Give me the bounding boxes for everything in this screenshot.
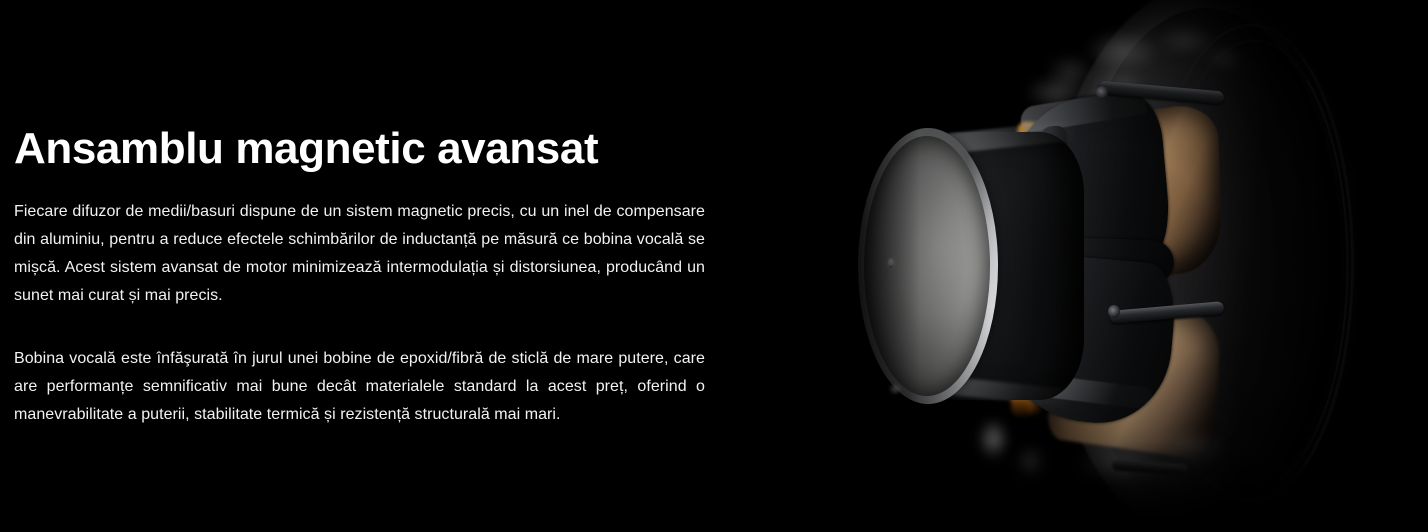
paragraph-2: Bobina vocală este înfăşurată în jurul u… [14, 345, 705, 429]
basket-rod-bottom-cap [1108, 305, 1120, 318]
mounting-tab-c [1060, 424, 1240, 532]
magnet-vent-hole [888, 258, 894, 268]
magnet-backplate-sheen [874, 152, 960, 362]
paragraph-1: Fiecare difuzor de medii/basuri dispune … [14, 198, 705, 310]
speaker-product-image [830, 0, 1428, 532]
product-image-stage [830, 0, 1428, 532]
magnet-backplate-specular [888, 384, 902, 394]
feature-text-column: Ansamblu magnetic avansat Fiecare difuzo… [14, 0, 706, 532]
feature-description: Fiecare difuzor de medii/basuri dispune … [14, 198, 705, 429]
magnet-feature-section: Ansamblu magnetic avansat Fiecare difuzo… [0, 0, 1428, 532]
basket-rod-top-cap [1096, 86, 1108, 99]
mounting-tab-b [1010, 440, 1050, 488]
page-title: Ansamblu magnetic avansat [14, 126, 598, 172]
